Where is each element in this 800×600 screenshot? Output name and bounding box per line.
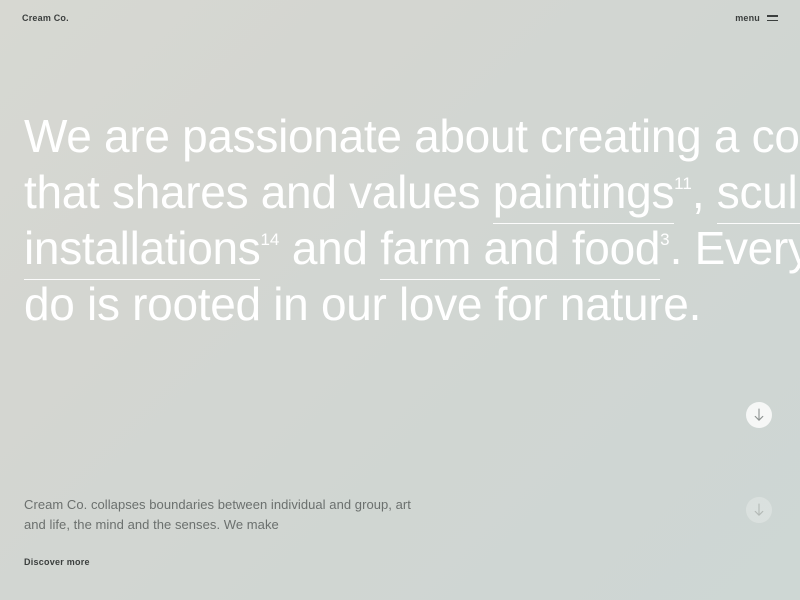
headline-line-2: that shares and values paintings11, scul…: [24, 164, 800, 220]
intro-paragraph: Cream Co. collapses boundaries between i…: [24, 495, 424, 535]
headline-link-sculpture-label: sculpture: [717, 166, 800, 218]
footnote-ref-paintings[interactable]: 11: [674, 174, 692, 193]
brand-logo[interactable]: Cream Co.: [22, 13, 69, 23]
headline-link-sculpture[interactable]: sculpture: [717, 166, 800, 224]
headline-line-1-text: We are passionate about creating a commu: [24, 110, 800, 162]
headline-line-3: installations14 and farm and food3. Ever…: [24, 220, 800, 276]
headline-link-paintings[interactable]: paintings: [493, 166, 674, 224]
menu-button[interactable]: menu: [735, 13, 778, 23]
headline-link-paintings-label: paintings: [493, 166, 674, 218]
headline-link-installations[interactable]: installations: [24, 222, 260, 280]
headline-line-4-text: do is rooted in our love for nature.: [24, 278, 701, 330]
headline-line-3-tail: . Everything: [670, 222, 800, 274]
headline-line-2-prefix: that shares and values: [24, 166, 493, 218]
hamburger-icon-line: [767, 20, 778, 21]
footnote-ref-farm-and-food[interactable]: 3: [660, 230, 669, 249]
scroll-down-button[interactable]: [746, 402, 772, 428]
headline-line-3-mid: and: [279, 222, 380, 274]
headline-line-4: do is rooted in our love for nature.: [24, 276, 800, 332]
arrow-down-icon: [753, 503, 765, 517]
headline-line-1: We are passionate about creating a commu: [24, 108, 800, 164]
site-header: Cream Co. menu: [0, 0, 800, 36]
menu-button-label: menu: [735, 13, 760, 23]
hamburger-icon: [767, 15, 778, 21]
arrow-down-icon: [753, 408, 765, 422]
intro-block: Cream Co. collapses boundaries between i…: [24, 495, 424, 570]
scroll-down-button-secondary[interactable]: [746, 497, 772, 523]
headline-link-installations-label: installations: [24, 222, 260, 274]
footnote-ref-installations[interactable]: 14: [260, 230, 279, 249]
headline-link-farm-and-food-label: farm and food: [380, 222, 660, 274]
hamburger-icon-line: [767, 15, 778, 16]
page-title: We are passionate about creating a commu…: [24, 108, 800, 332]
headline-line-2-separator: ,: [692, 166, 717, 218]
discover-more-link[interactable]: Discover more: [24, 557, 90, 567]
headline-link-farm-and-food[interactable]: farm and food: [380, 222, 660, 280]
hero-section: We are passionate about creating a commu…: [24, 108, 800, 332]
